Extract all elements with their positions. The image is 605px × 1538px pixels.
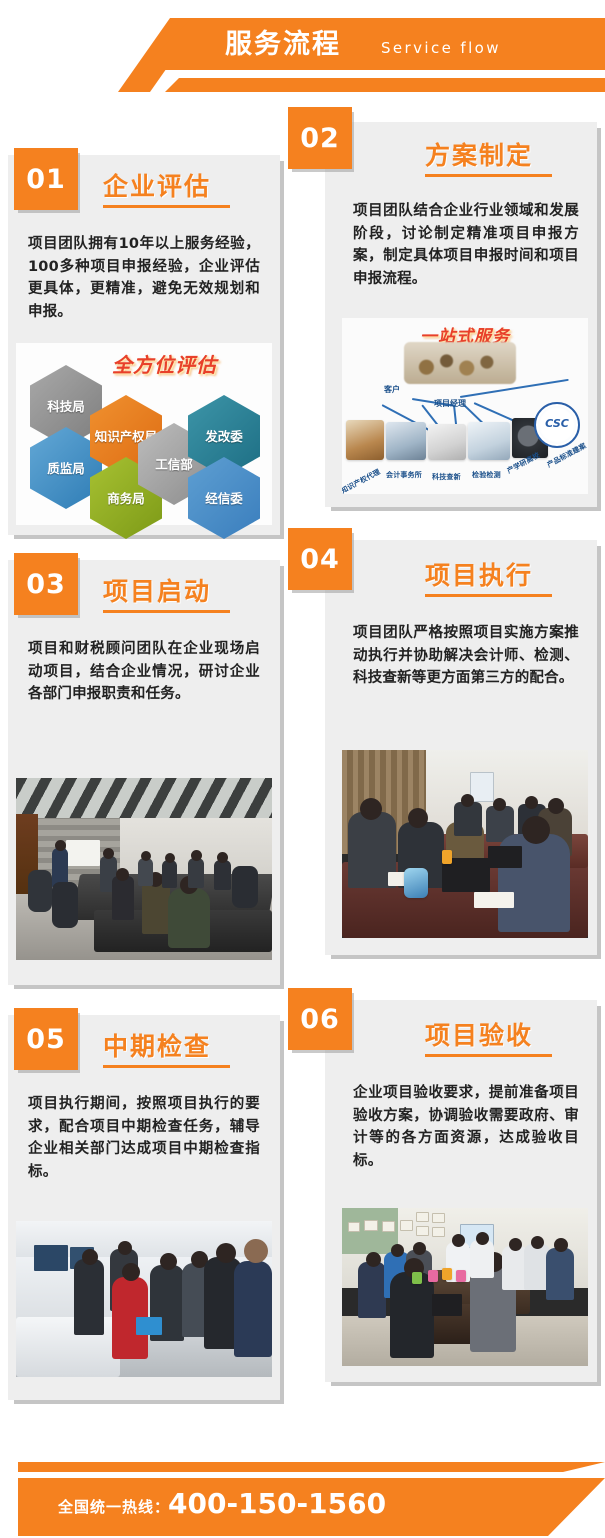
card-photo-showroom-visit [16,1221,272,1377]
card-body-text: 项目团队严格按照项目实施方案推动执行并协助解决会计师、检测、科技查新等更方面第三… [353,622,579,690]
card-title-rule [103,205,230,208]
card-photo-meeting-laptops [342,750,588,938]
process-card-05[interactable]: 05 中期检查 项目执行期间，按照项目执行的要求，配合项目中期检查任务，辅导企业… [8,1015,280,1400]
hex-diagram-title: 全方位评估 [112,349,217,378]
card-title: 项目启动 [103,572,211,608]
card-title-rule [103,1065,230,1068]
one-stop-hero-photo [404,342,516,384]
process-card-03[interactable]: 03 项目启动 项目和财税顾问团队在企业现场启动项目，结合企业情况，研讨企业各部… [8,560,280,985]
one-stop-center-label: 项目经理 [434,398,466,409]
card-title-rule [103,610,230,613]
infographic-page: 服务流程 Service flow 01 企业评估 项目团队拥有10年以上服务经… [0,0,605,1538]
card-title: 项目验收 [425,1016,533,1052]
page-subtitle: Service flow [381,37,501,59]
card-number-badge: 04 [288,528,352,590]
one-stop-label-accounting: 会计事务所 [386,470,422,480]
header-underline-shape [165,78,605,92]
footer-accent-line [18,1462,605,1472]
hex-diagram: 全方位评估 科技局 质监局 知识产权局 商务局 工信部 发改委 经信委 [16,343,272,525]
card-number-badge: 06 [288,988,352,1050]
one-stop-label-search: 科技查新 [432,472,461,482]
page-footer: 全国统一热线： 400-150-1560 [0,1432,605,1538]
node-thumb-accounting [386,422,426,460]
card-title: 项目执行 [425,556,533,592]
card-number-badge: 02 [288,107,352,169]
card-title-rule [425,1054,552,1057]
process-card-04[interactable]: 04 项目执行 项目团队严格按照项目实施方案推动执行并协助解决会计师、检测、科技… [325,540,597,955]
card-body-text: 项目和财税顾问团队在企业现场启动项目，结合企业情况，研讨企业各部门申报职责和任务… [28,638,260,706]
process-card-01[interactable]: 01 企业评估 项目团队拥有10年以上服务经验，100多种项目申报经验，企业评估… [8,155,280,535]
card-number-badge: 05 [14,1008,78,1070]
card-number-badge: 03 [14,553,78,615]
card-title-rule [425,594,552,597]
node-thumb-testing [468,422,510,460]
card-photo-conference-room [16,778,272,960]
node-seal-icon [534,402,580,448]
card-body-text: 项目执行期间，按照项目执行的要求，配合项目中期检查任务，辅导企业相关部门达成项目… [28,1093,260,1183]
card-body-text: 项目团队结合企业行业领域和发展阶段，讨论制定精准项目申报方案，制定具体项目申报时… [353,200,579,290]
card-title: 中期检查 [103,1027,211,1063]
card-title: 方案制定 [425,136,533,172]
node-thumb-search [428,424,466,460]
page-header: 服务流程 Service flow [0,0,605,108]
one-stop-label-ip: 知识产权代理 [342,467,382,494]
one-stop-diagram: 一站式服务 客户 项目经理 知识产权代 [342,318,588,494]
card-title-rule [425,174,552,177]
node-thumb-ip [346,420,384,460]
hotline-label: 全国统一热线： [58,1492,170,1522]
card-body-text: 企业项目验收要求，提前准备项目验收方案，协调验收需要政府、审计等的各方面资源，达… [353,1082,579,1172]
header-band-shape [140,18,605,70]
page-title: 服务流程 [225,26,341,64]
hotline-number[interactable]: 400-150-1560 [168,1484,386,1524]
card-body-text: 项目团队拥有10年以上服务经验，100多种项目申报经验，企业评估更具体，更精准，… [28,233,260,323]
one-stop-client-label: 客户 [384,384,400,395]
process-card-06[interactable]: 06 项目验收 企业项目验收要求，提前准备项目验收方案，协调验收需要政府、审计等… [325,1000,597,1382]
card-title: 企业评估 [103,167,211,203]
card-number-badge: 01 [14,148,78,210]
one-stop-label-testing: 检验检测 [472,470,501,480]
process-card-02[interactable]: 02 方案制定 项目团队结合企业行业领域和发展阶段，讨论制定精准项目申报方案，制… [325,122,597,507]
card-photo-acceptance-meeting [342,1208,588,1366]
